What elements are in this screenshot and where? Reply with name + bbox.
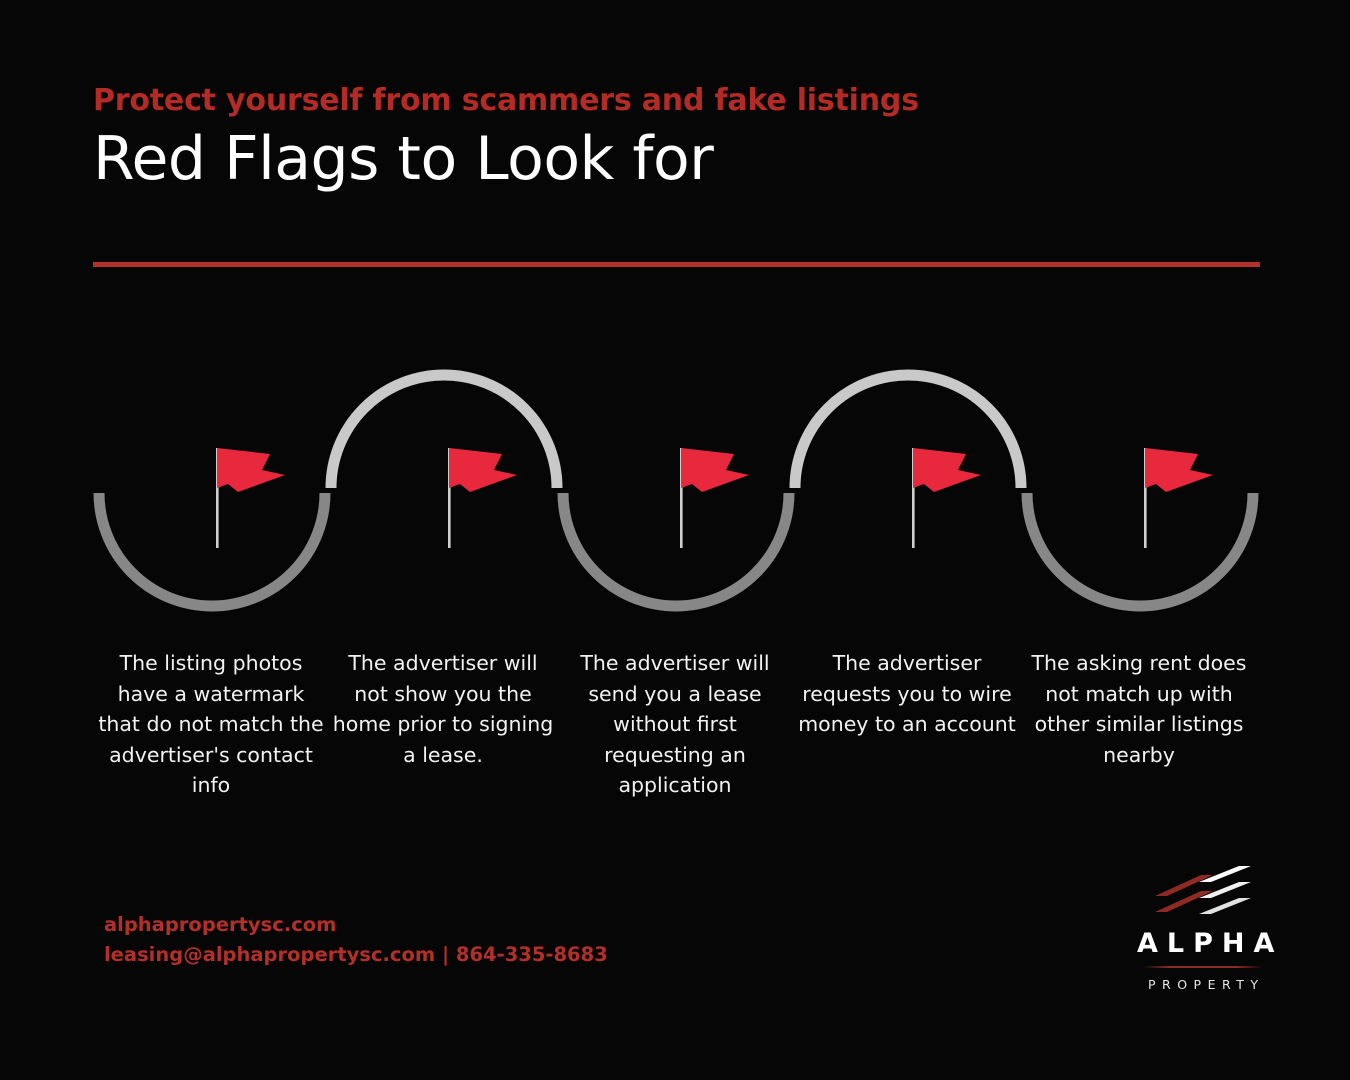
- flag-group-3: [680, 448, 749, 548]
- flag-group-5: [1144, 448, 1213, 548]
- logo-white-bar-2: [1199, 882, 1251, 898]
- red-flag-icon: [913, 448, 981, 492]
- caption-item: The asking rent does not match up with o…: [1023, 648, 1255, 770]
- infographic-page: Protect yourself from scammers and fake …: [0, 0, 1350, 1080]
- wave-down-arcs: [99, 493, 1253, 606]
- red-flag-icon: [681, 448, 749, 492]
- page-title: Red Flags to Look for: [93, 122, 1263, 196]
- red-flag-icon: [217, 448, 285, 492]
- eyebrow-text: Protect yourself from scammers and fake …: [93, 82, 1263, 120]
- company-logo: ALPHA PROPERTY: [1128, 866, 1278, 992]
- caption-item: The listing photos have a watermark that…: [95, 648, 327, 801]
- alpha-roof-mark-icon: [1147, 866, 1259, 922]
- flag-group-2: [448, 448, 517, 548]
- header-block: Protect yourself from scammers and fake …: [93, 82, 1263, 196]
- red-flag-icon: [1145, 448, 1213, 492]
- logo-tagline: PROPERTY: [1128, 977, 1278, 992]
- caption-item: The advertiser will not show you the hom…: [327, 648, 559, 770]
- wave-flag-graphic: [0, 340, 1350, 640]
- logo-white-bar-3: [1199, 898, 1251, 914]
- email-phone-line[interactable]: leasing@alphapropertysc.com | 864-335-86…: [104, 940, 608, 970]
- logo-wordmark: ALPHA: [1128, 928, 1278, 959]
- logo-white-bar-1: [1199, 866, 1251, 882]
- caption-item: The advertiser requests you to wire mone…: [791, 648, 1023, 740]
- flag-group-4: [912, 448, 981, 548]
- contact-block: alphapropertysc.com leasing@alphapropert…: [104, 910, 608, 970]
- caption-row: The listing photos have a watermark that…: [95, 648, 1265, 801]
- header-divider: [93, 262, 1260, 267]
- caption-item: The advertiser will send you a lease wit…: [559, 648, 791, 801]
- website-link[interactable]: alphapropertysc.com: [104, 910, 608, 940]
- flag-group-1: [216, 448, 285, 548]
- red-flag-icon: [449, 448, 517, 492]
- logo-rule: [1143, 966, 1263, 968]
